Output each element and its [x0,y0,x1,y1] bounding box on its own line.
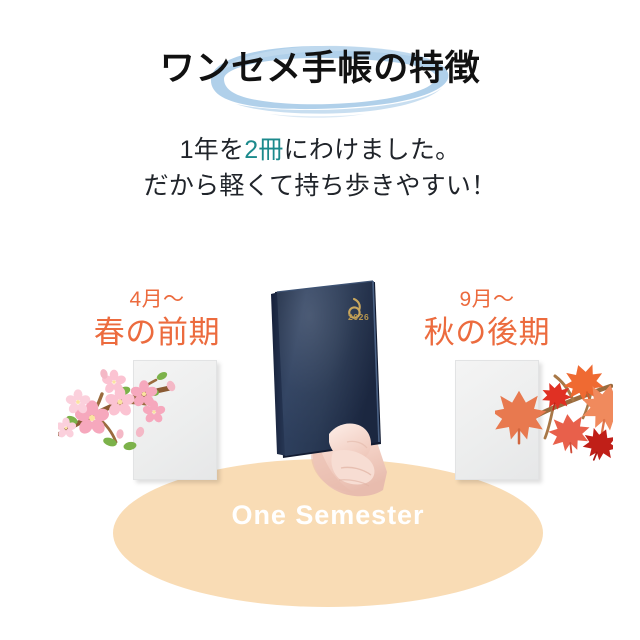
page-title: ワンセメ手帳の特徴 [0,48,640,90]
subtitle-line-1: 1年を2冊にわけました。 [0,132,640,168]
sakura-branch-icon [58,358,186,462]
platform-label: One Semester [113,500,543,531]
season-spring-name: 春の前期 [62,314,252,351]
page-title-text: ワンセメ手帳の特徴 [160,49,481,88]
notebook-year-label: 2026 [348,312,369,322]
maple-leaves-icon [495,356,613,462]
subtitle-line1-accent: 2冊 [244,136,283,164]
infographic-canvas: ワンセメ手帳の特徴 1年を2冊にわけました。 だから軽くて持ち歩きやすい！ [0,0,640,640]
season-autumn-month: 9月〜 [392,288,582,312]
notebook-product-image: 2026 [255,276,397,500]
season-label-autumn: 9月〜 秋の後期 [392,288,582,351]
subtitle-line-2: だから軽くて持ち歩きやすい！ [0,168,640,204]
maple-leaf-shapes [495,359,613,462]
season-spring-month: 4月〜 [62,288,252,312]
title-block: ワンセメ手帳の特徴 [0,48,640,90]
subtitle-line1-before: 1年を [180,136,245,164]
subtitle-block: 1年を2冊にわけました。 だから軽くて持ち歩きやすい！ [0,132,640,204]
season-label-spring: 4月〜 春の前期 [62,288,252,351]
subtitle-line1-after: にわけました。 [284,136,461,164]
season-autumn-name: 秋の後期 [392,314,582,351]
